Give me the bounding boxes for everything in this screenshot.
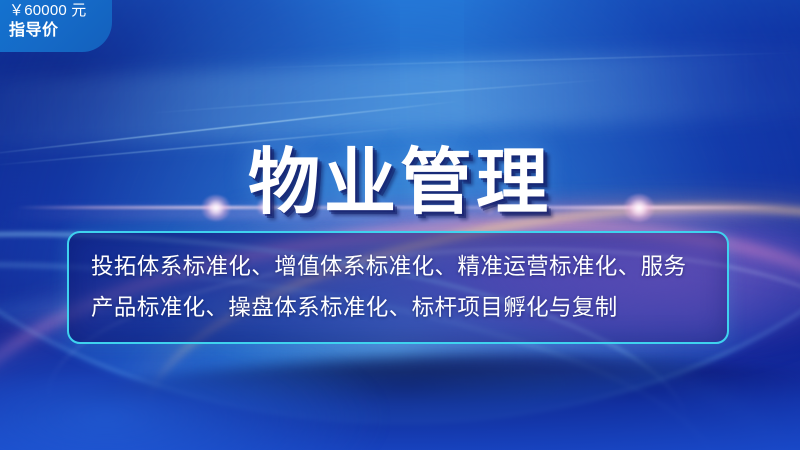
price-badge-label: 指导价: [9, 22, 102, 39]
poster-canvas: ￥60000 元 指导价 物业管理 投拓体系标准化、增值体系标准化、精准运营标准…: [0, 0, 800, 450]
price-badge-amount: ￥60000 元: [9, 3, 102, 19]
info-box: 投拓体系标准化、增值体系标准化、精准运营标准化、服务产品标准化、操盘体系标准化、…: [67, 231, 729, 344]
info-box-text: 投拓体系标准化、增值体系标准化、精准运营标准化、服务产品标准化、操盘体系标准化、…: [91, 247, 705, 327]
page-title: 物业管理: [248, 146, 552, 218]
price-badge: ￥60000 元 指导价: [0, 0, 112, 52]
